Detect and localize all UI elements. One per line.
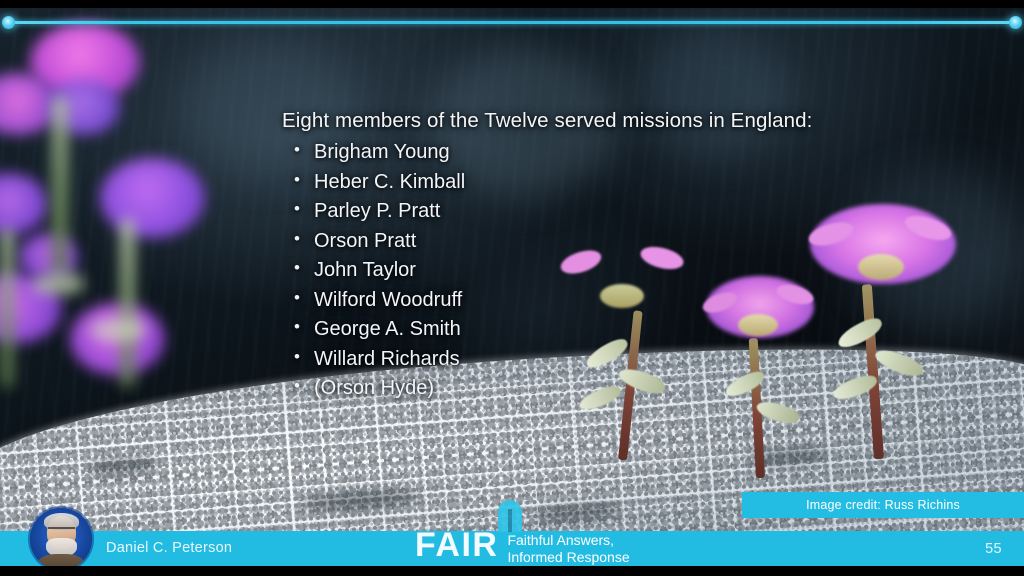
- avatar: [30, 508, 92, 570]
- list-item: Brigham Young: [282, 138, 882, 168]
- flower-leaf: [32, 273, 84, 295]
- letterbox-bottom: [0, 566, 1024, 576]
- image-credit-label: Image credit: Russ Richins: [806, 498, 960, 512]
- list-item: Wilford Woodruff: [282, 286, 882, 316]
- flower-stem: [52, 96, 68, 276]
- rule-end-cap-right-icon: [1009, 16, 1022, 29]
- slide-text-block: Eight members of the Twelve served missi…: [282, 108, 882, 404]
- fair-brand: FAIR Faithful Answers, Informed Response: [415, 528, 630, 565]
- speaker-name: Daniel C. Peterson: [106, 540, 232, 556]
- rule-end-cap-left-icon: [2, 16, 15, 29]
- fair-tagline-line2: Informed Response: [507, 549, 629, 566]
- glasses-icon: [48, 527, 75, 536]
- flower-bloom: [100, 158, 205, 238]
- list-item: Willard Richards: [282, 345, 882, 375]
- slide-bullet-list: Brigham Young Heber C. Kimball Parley P.…: [282, 138, 882, 404]
- fair-tagline: Faithful Answers, Informed Response: [507, 532, 629, 565]
- list-item: John Taylor: [282, 256, 882, 286]
- slide-headline: Eight members of the Twelve served missi…: [282, 108, 882, 134]
- flower-leaf: [90, 318, 146, 342]
- page-number: 55: [985, 541, 1002, 557]
- left-flower-cluster: [0, 18, 240, 418]
- fair-tagline-line1: Faithful Answers,: [507, 532, 629, 549]
- flower-stem: [0, 228, 14, 388]
- list-item: Orson Pratt: [282, 227, 882, 257]
- flower-bloom: [0, 173, 48, 235]
- list-item: (Orson Hyde): [282, 374, 882, 404]
- list-item: Parley P. Pratt: [282, 197, 882, 227]
- image-credit-banner: Image credit: Russ Richins: [742, 492, 1024, 518]
- list-item: Heber C. Kimball: [282, 168, 882, 198]
- slide-stage: Eight members of the Twelve served missi…: [0, 0, 1024, 576]
- fair-wordmark: FAIR: [415, 528, 498, 562]
- flower-stem: [120, 218, 135, 388]
- letterbox-top: [0, 0, 1024, 8]
- slide-top-rule: [10, 21, 1014, 24]
- list-item: George A. Smith: [282, 315, 882, 345]
